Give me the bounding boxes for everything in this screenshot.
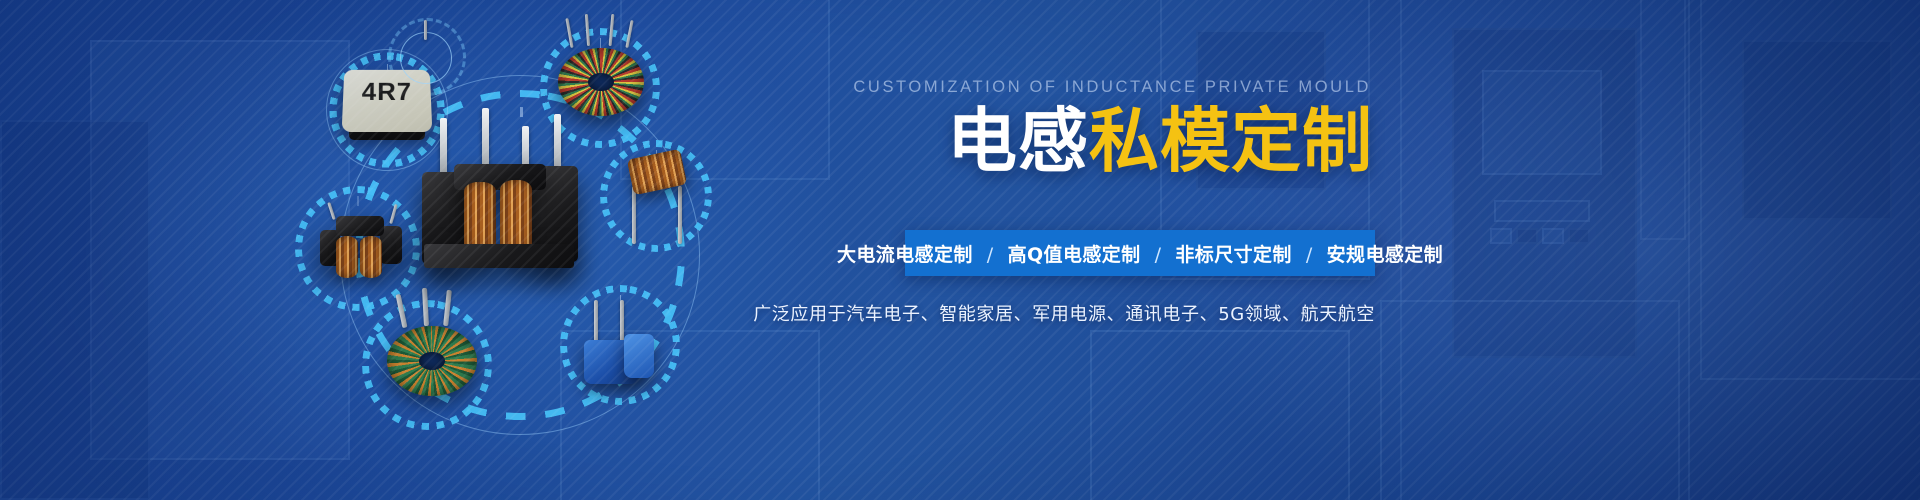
banner-content: CUSTOMIZATION OF INDUCTANCE PRIVATE MOUL…	[735, 78, 1375, 179]
tagline-item-0: 大电流电感定制	[837, 244, 973, 266]
headline-white-text: 电感	[947, 100, 1089, 182]
tagline-separator-1: /	[1148, 244, 1169, 266]
tagline-item-3: 安规电感定制	[1327, 244, 1443, 266]
tagline-item-2: 非标尺寸定制	[1175, 244, 1291, 266]
tagline-separator-0: /	[980, 244, 1001, 266]
inductor-customization-banner: 4R7	[0, 0, 1920, 500]
banner-description: 广泛应用于汽车电子、智能家居、军用电源、通讯电子、5G领域、航天航空	[735, 300, 1375, 326]
headline-yellow-text: 私模定制	[1089, 100, 1373, 182]
banner-headline: 电感私模定制	[735, 105, 1375, 179]
tagline-item-1: 高Q值电感定制	[1008, 244, 1141, 266]
tagline-separator-2: /	[1299, 244, 1320, 266]
banner-tagline-bar: 大电流电感定制 / 高Q值电感定制 / 非标尺寸定制 / 安规电感定制	[905, 230, 1375, 276]
banner-tagline-text: 大电流电感定制 / 高Q值电感定制 / 非标尺寸定制 / 安规电感定制	[837, 240, 1443, 267]
banner-eyebrow-english: CUSTOMIZATION OF INDUCTANCE PRIVATE MOUL…	[735, 78, 1375, 97]
